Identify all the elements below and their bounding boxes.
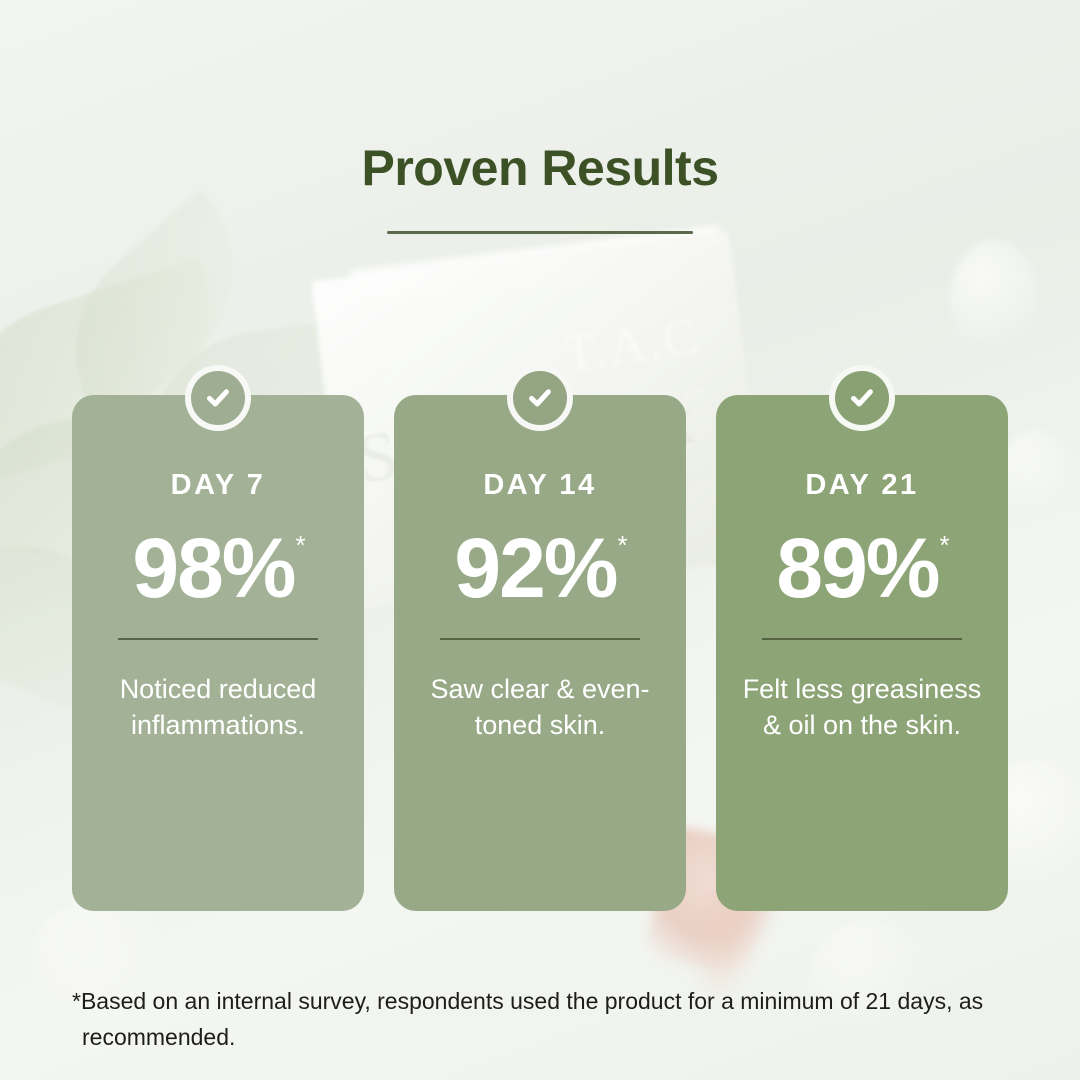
result-card-day-21: DAY 21 89% * Felt less greasiness & oil …	[716, 395, 1008, 911]
card-divider	[762, 638, 962, 640]
droplet-highlight	[1000, 430, 1070, 520]
card-divider	[118, 638, 318, 640]
day-label: DAY 14	[416, 471, 664, 500]
footnote-asterisk: *	[940, 532, 948, 558]
result-description: Felt less greasiness & oil on the skin.	[738, 672, 986, 743]
results-card-row: DAY 7 98% * Noticed reduced inflammation…	[72, 395, 1008, 911]
result-description: Saw clear & even-toned skin.	[416, 672, 664, 743]
title-divider	[387, 231, 693, 234]
percentage-number: 89%	[776, 526, 938, 610]
check-circle-icon	[507, 365, 573, 431]
day-label: DAY 7	[94, 471, 342, 500]
result-card-day-14: DAY 14 92% * Saw clear & even-toned skin…	[394, 395, 686, 911]
check-circle-icon	[829, 365, 895, 431]
percentage-number: 92%	[454, 526, 616, 610]
percentage-value: 92% *	[416, 526, 664, 610]
proven-results-infographic: T.A.C the ayurveda co. Sheet Mask Proven…	[0, 0, 1080, 1080]
percentage-value: 98% *	[94, 526, 342, 610]
check-circle-icon	[185, 365, 251, 431]
result-description: Noticed reduced inflammations.	[94, 672, 342, 743]
percentage-number: 98%	[132, 526, 294, 610]
percentage-value: 89% *	[738, 526, 986, 610]
card-divider	[440, 638, 640, 640]
droplet-highlight	[950, 240, 1040, 360]
footnote-asterisk: *	[618, 532, 626, 558]
page-title: Proven Results	[0, 142, 1080, 195]
result-card-day-7: DAY 7 98% * Noticed reduced inflammation…	[72, 395, 364, 911]
header: Proven Results	[0, 142, 1080, 234]
footnote-asterisk: *	[296, 532, 304, 558]
footnote-text: *Based on an internal survey, respondent…	[72, 984, 1022, 1055]
day-label: DAY 21	[738, 471, 986, 500]
